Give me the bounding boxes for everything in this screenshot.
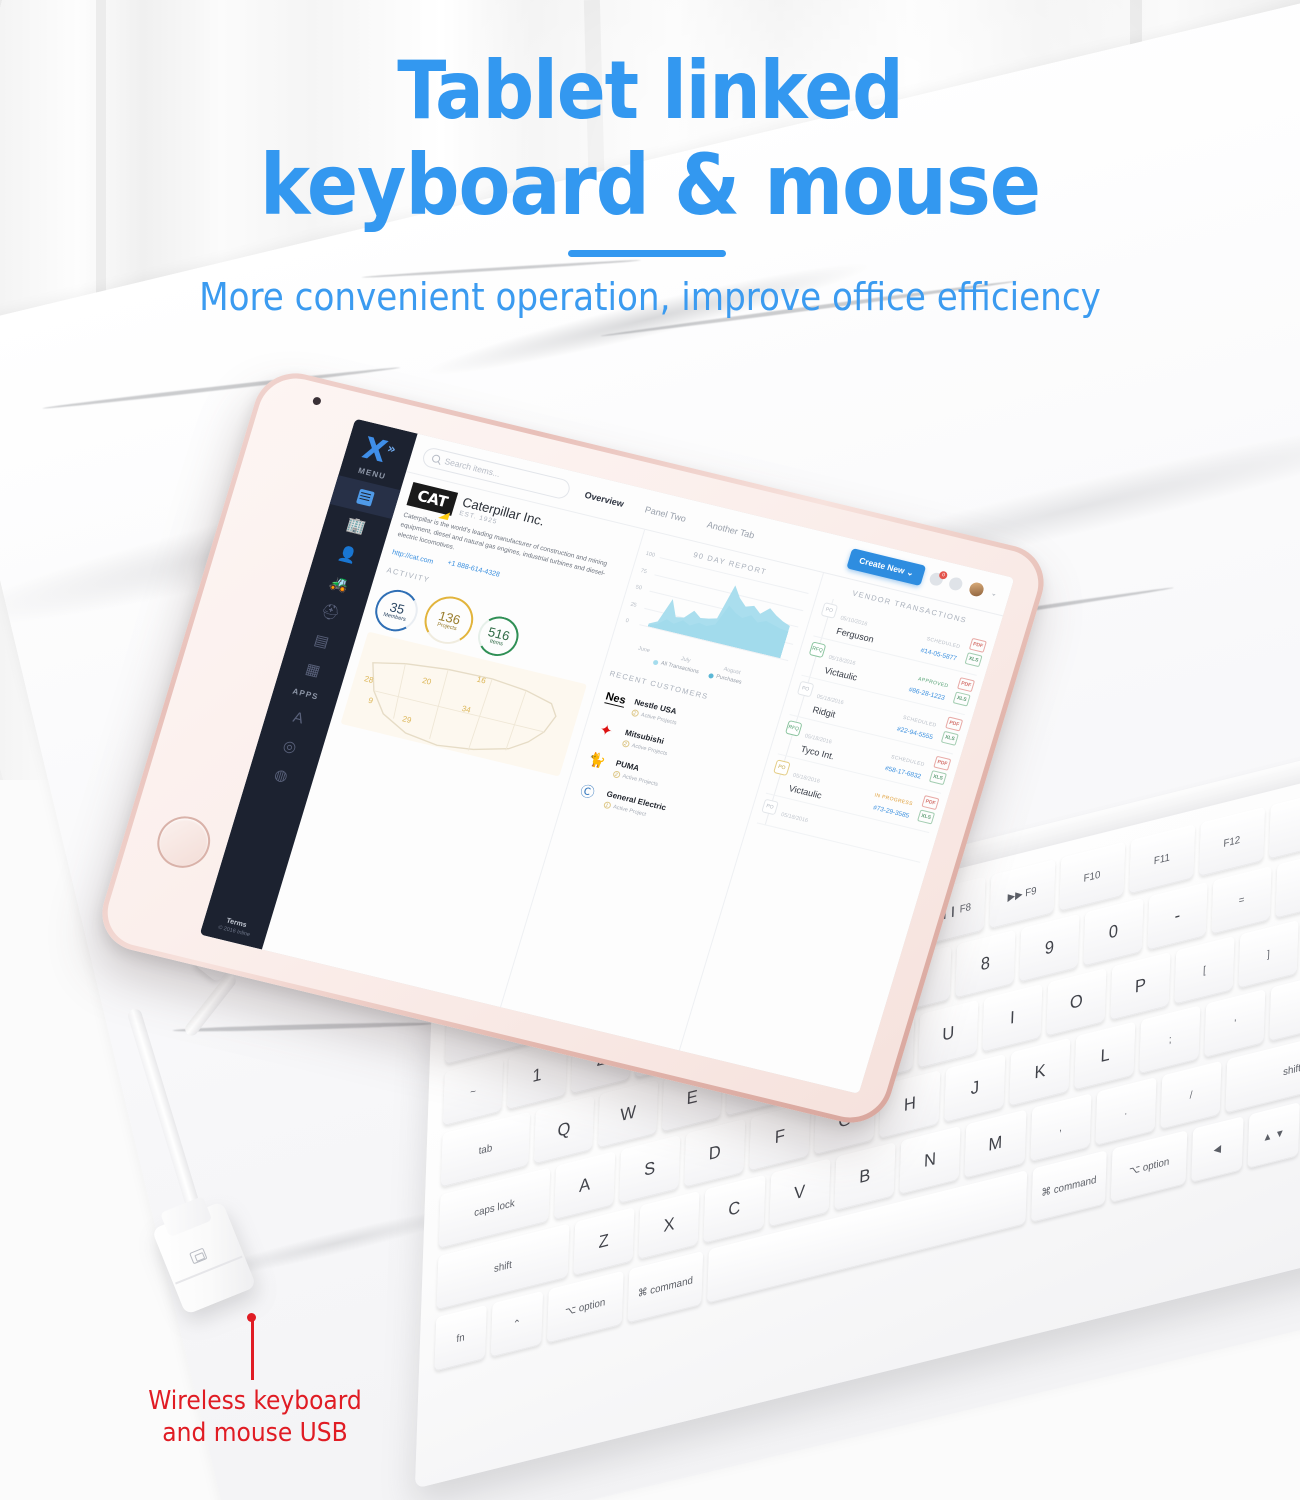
sidebar-terms[interactable]: Terms © 2016 Inline	[202, 912, 269, 941]
status-badge: SCHEDULED	[926, 636, 961, 650]
building-icon: 🏢	[345, 515, 368, 537]
key-[interactable]: =	[1211, 866, 1271, 935]
transaction-status-block	[913, 836, 919, 855]
key-[interactable]: ,	[1030, 1093, 1091, 1162]
key-0[interactable]: 0	[1083, 898, 1143, 967]
key-[interactable]: ~	[443, 1058, 503, 1127]
transaction-vendor	[779, 822, 908, 853]
project-count-badge: 2	[630, 709, 639, 717]
key-z[interactable]: Z	[573, 1207, 634, 1276]
transaction-number[interactable]: #86-28-1223	[908, 686, 946, 701]
timeline-marker: PO	[758, 798, 779, 821]
transaction-number[interactable]: #58-17-6832	[884, 765, 922, 780]
key-[interactable]: ◀	[1191, 1116, 1243, 1183]
callout-leader-line	[251, 1318, 254, 1380]
headline-line-2: keyboard & mouse	[0, 138, 1300, 232]
key-u[interactable]: U	[918, 1000, 978, 1069]
caterpillar-logo-icon: CAT	[406, 482, 458, 516]
key-[interactable]: .	[1095, 1077, 1156, 1146]
layers-icon: ▤	[312, 631, 331, 652]
transaction-date: 05/18/2016	[804, 733, 832, 745]
key-option[interactable]: ⌥ option	[547, 1271, 623, 1344]
transaction-type-badge: PO	[797, 681, 815, 698]
customer-logo-icon: Ⓒ	[572, 779, 602, 802]
transaction-date: 05/18/2016	[828, 655, 856, 667]
timeline-marker: PO	[815, 602, 839, 635]
globe-icon: ◍	[272, 765, 290, 785]
page-subtitle: More convenient operation, improve offic…	[0, 274, 1300, 320]
transaction-date: 05/10/2016	[839, 615, 867, 627]
project-count-badge: 1	[603, 801, 612, 809]
chart-x-tick: July	[680, 656, 691, 664]
transaction-files: PDFXLS	[928, 756, 951, 788]
key-command[interactable]: ⌘ command	[627, 1251, 703, 1324]
key-[interactable]: ⌃	[491, 1291, 543, 1358]
home-button[interactable]	[151, 811, 217, 873]
key-a[interactable]: A	[554, 1151, 615, 1220]
document-icon	[356, 488, 375, 506]
file-xls-button[interactable]: XLS	[917, 809, 935, 824]
tab-another-tab[interactable]: Another Tab	[706, 519, 756, 540]
adapter-seam	[175, 1256, 242, 1284]
key-c[interactable]: C	[704, 1175, 765, 1244]
file-pdf-button[interactable]: PDF	[921, 795, 939, 810]
callout-label: Wireless keyboard and mouse USB	[110, 1385, 400, 1449]
usb-otg-adapter[interactable]	[160, 1200, 290, 1320]
marketing-banner: Tablet linked keyboard & mouse More conv…	[0, 0, 1300, 1500]
file-xls-button[interactable]: XLS	[929, 770, 947, 785]
headline-divider	[568, 250, 726, 257]
transaction-number[interactable]: #22-94-5555	[896, 726, 934, 741]
file-xls-button[interactable]: XLS	[964, 652, 982, 667]
transaction-type-badge: PO	[773, 759, 791, 776]
metric-members: 35 Members	[370, 586, 423, 636]
key-f10[interactable]: F10	[1059, 842, 1125, 912]
file-pdf-button[interactable]: PDF	[933, 756, 951, 771]
key-s[interactable]: S	[619, 1135, 680, 1204]
transaction-type-badge: PO	[761, 799, 779, 816]
create-new-label: Create New	[858, 555, 906, 575]
key-f11[interactable]: F11	[1129, 824, 1195, 894]
transaction-files: PDFXLS	[940, 716, 963, 748]
target-icon: ◎	[281, 736, 299, 756]
transaction-status-block: APPROVED#86-28-1223	[907, 666, 952, 703]
metric-items: 516 Items	[473, 612, 523, 660]
avatar[interactable]	[967, 579, 987, 598]
timeline-marker: RFQ	[779, 720, 803, 753]
file-xls-button[interactable]: XLS	[953, 691, 971, 706]
transaction-type-badge: RFQ	[808, 641, 826, 658]
tab-overview[interactable]: Overview	[584, 489, 626, 508]
customer-logo-icon: ✦	[591, 718, 621, 741]
usb-port-icon	[189, 1248, 207, 1265]
key-[interactable]: '	[1205, 989, 1266, 1058]
transaction-status-block: IN PROGRESS#73-29-3585	[869, 784, 916, 822]
transaction-files: PDFXLS	[952, 677, 975, 709]
avatar-chevron-down-icon[interactable]: ⌄	[990, 589, 998, 598]
key-[interactable]: /	[1160, 1061, 1221, 1130]
key-m[interactable]: M	[965, 1110, 1026, 1179]
tablet-screen[interactable]: X» MENU 🏢 👤 🚜 ⛑ ▤ ▦ APPS A	[200, 419, 1015, 1094]
file-pdf-button[interactable]: PDF	[945, 716, 963, 731]
key-[interactable]: ▲ ▼	[1247, 1102, 1299, 1169]
key-[interactable]: -	[1147, 882, 1207, 951]
key-b[interactable]: B	[834, 1142, 895, 1211]
callout-line-1: Wireless keyboard	[148, 1386, 362, 1416]
timeline-marker: PO	[767, 759, 791, 792]
legend-swatch	[652, 659, 658, 665]
company-website-link[interactable]: http://cat.com	[391, 549, 434, 566]
key-l[interactable]: L	[1075, 1021, 1136, 1090]
front-camera-icon	[312, 396, 322, 406]
dashboard-app: X» MENU 🏢 👤 🚜 ⛑ ▤ ▦ APPS A	[200, 419, 1015, 1094]
status-badge: SCHEDULED	[902, 715, 937, 729]
metric-projects: 136 Projects	[419, 592, 480, 649]
messages-icon[interactable]	[948, 576, 964, 592]
key-v[interactable]: V	[769, 1158, 830, 1227]
transaction-status-block: SCHEDULED#14-05-5877	[919, 627, 964, 664]
adapter-body	[152, 1201, 257, 1315]
callout-line-2: and mouse USB	[162, 1418, 347, 1448]
transaction-date: 05/18/2016	[780, 812, 808, 824]
key-[interactable]: ;	[1140, 1005, 1201, 1074]
adapter-lip	[160, 1196, 212, 1237]
key-option[interactable]: ⌥ option	[1111, 1130, 1187, 1203]
search-placeholder: Search items...	[444, 456, 502, 479]
transaction-files	[922, 838, 928, 857]
legend-swatch	[708, 672, 714, 678]
transaction-number[interactable]: #73-29-3585	[870, 804, 910, 820]
project-count-badge: 2	[612, 770, 621, 778]
file-xls-button[interactable]: XLS	[941, 731, 959, 746]
key-w[interactable]: W	[598, 1080, 658, 1149]
status-badge: SCHEDULED	[890, 754, 925, 768]
app-logo[interactable]: X»	[359, 428, 400, 471]
tab-panel-two[interactable]: Panel Two	[644, 504, 688, 523]
key-d[interactable]: D	[684, 1119, 745, 1188]
transaction-files: PDFXLS	[964, 638, 987, 670]
timeline-marker: RFQ	[803, 641, 827, 674]
chart-x-tick: June	[637, 646, 650, 655]
key-x[interactable]: X	[638, 1191, 699, 1260]
chevron-down-icon: ⌄	[905, 567, 915, 578]
key-o[interactable]: O	[1046, 968, 1106, 1037]
calculator-icon: ▦	[303, 659, 322, 680]
project-count-badge: 2	[621, 740, 630, 748]
status-badge: APPROVED	[917, 676, 949, 689]
key-command[interactable]: ⌘ command	[1031, 1150, 1107, 1223]
key-fn[interactable]: fn	[434, 1305, 486, 1372]
transaction-status-block: SCHEDULED#58-17-6832	[883, 745, 928, 782]
transaction-date: 05/18/2016	[792, 773, 820, 785]
notifications-icon[interactable]: 0	[928, 571, 944, 587]
create-new-button[interactable]: Create New ⌄	[847, 548, 927, 586]
customer-logo-icon: Nes	[600, 687, 630, 710]
key-f[interactable]: F	[749, 1103, 810, 1172]
key-j[interactable]: J	[944, 1054, 1005, 1123]
key-delete[interactable]: delete	[1269, 781, 1300, 859]
key-8[interactable]: 8	[955, 930, 1015, 999]
transaction-date: 05/18/2016	[816, 694, 844, 706]
transaction-files: PDFXLS	[916, 795, 939, 827]
key-[interactable]: [	[1174, 936, 1234, 1005]
key-q[interactable]: Q	[534, 1096, 594, 1165]
key-k[interactable]: K	[1009, 1038, 1070, 1107]
key-f12[interactable]: F12	[1199, 807, 1265, 877]
key-9[interactable]: 9	[1019, 914, 1079, 983]
legend-label: All Transactions	[660, 660, 699, 675]
file-pdf-button[interactable]: PDF	[969, 638, 987, 653]
page-headline: Tablet linked keyboard & mouse	[0, 44, 1300, 232]
transaction-type-badge: PO	[820, 602, 838, 619]
timeline-marker: PO	[791, 680, 815, 713]
key-i[interactable]: I	[982, 984, 1042, 1053]
notification-badge: 0	[938, 570, 948, 580]
hardhat-icon: ⛑	[318, 601, 342, 623]
key-f9[interactable]: ▶▶ F9	[989, 859, 1055, 929]
person-pin-icon: 👤	[336, 544, 359, 566]
search-icon	[431, 453, 441, 463]
headline-line-1: Tablet linked	[397, 44, 902, 137]
key-p[interactable]: P	[1110, 952, 1170, 1021]
transaction-status-block: SCHEDULED#22-94-5555	[895, 706, 940, 743]
cat-logo-text: CAT	[415, 487, 450, 511]
excavator-icon: 🚜	[327, 573, 350, 595]
sidebar-apps-label: APPS	[291, 687, 319, 702]
chart-x-tick: August	[723, 666, 741, 676]
file-pdf-button[interactable]: PDF	[957, 677, 975, 692]
key-[interactable]: ]	[1238, 920, 1298, 989]
transaction-type-badge: RFQ	[785, 720, 803, 737]
transaction-number[interactable]: #14-05-5877	[920, 647, 958, 662]
legend-item-all-transactions[interactable]: All Transactions	[652, 659, 699, 676]
autodesk-icon: A	[291, 708, 306, 727]
key-n[interactable]: N	[899, 1126, 960, 1195]
customer-logo-icon: 🐈	[582, 749, 612, 772]
